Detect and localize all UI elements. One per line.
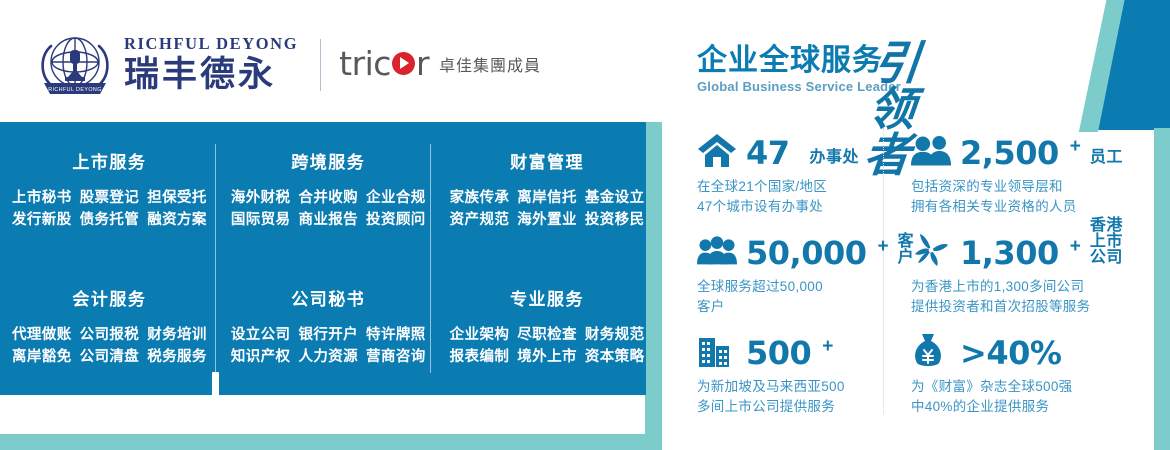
service-item[interactable]: 离岸信托 <box>517 190 577 206</box>
service-block-professional[interactable]: 专业服务 企业架构尽职检查财务规范 报表编制境外上市资本策略 <box>438 259 657 396</box>
service-item[interactable]: 家族传承 <box>450 190 510 206</box>
service-row: 家族传承离岸信托基金设立 <box>446 187 649 209</box>
service-row: 设立公司银行开户特许牌照 <box>227 324 430 346</box>
stat-hk-listed: 1,300 + 香港上市公司 为香港上市的1,300多间公司 提供投资者和首次招… <box>911 224 1137 324</box>
stat-unit: 办事处 <box>810 150 860 168</box>
service-row: 代理做账公司报税财务培训 <box>8 324 211 346</box>
service-row: 国际贸易商业报告投资顾问 <box>227 209 430 231</box>
stat-plus: + <box>877 237 888 256</box>
service-item[interactable]: 海外财税 <box>231 190 291 206</box>
service-item[interactable]: 企业合规 <box>366 190 426 206</box>
service-item[interactable]: 尽职检查 <box>517 327 577 343</box>
tricor-o-icon <box>392 52 415 75</box>
money-bag-icon <box>911 330 951 368</box>
service-row: 海外财税合并收购企业合规 <box>227 187 430 209</box>
stat-description: 为香港上市的1,300多间公司 提供投资者和首次招股等服务 <box>911 277 1137 316</box>
house-icon <box>697 130 737 168</box>
brand-name-block: RICHFUL DEYONG 瑞丰德永 <box>124 35 298 95</box>
service-item[interactable]: 担保受托 <box>147 190 207 206</box>
service-title: 财富管理 <box>446 148 649 173</box>
stat-desc-line2: 客户 <box>697 297 883 317</box>
service-block-wealth[interactable]: 财富管理 家族传承离岸信托基金设立 资产规范海外置业投资移民 <box>438 122 657 259</box>
stat-unit: 员工 <box>1090 150 1123 168</box>
stat-desc-line2: 多间上市公司提供服务 <box>697 397 883 417</box>
stat-offices: 47 办事处 在全球21个国家/地区 47个城市设有办事处 <box>697 124 883 224</box>
service-item[interactable]: 企业架构 <box>450 327 510 343</box>
stat-desc-line1: 为《财富》杂志全球500强 <box>911 377 1137 397</box>
service-block-secretary[interactable]: 公司秘书 设立公司银行开户特许牌照 知识产权人力资源营商咨询 <box>219 259 438 396</box>
bauhinia-icon <box>911 230 951 268</box>
stat-unit: 香港上市公司 <box>1090 218 1137 268</box>
stat-number: 50,000 <box>746 238 866 268</box>
tricor-wordmark: tric r <box>339 47 429 80</box>
service-row: 离岸豁免公司清盘税务服务 <box>8 346 211 368</box>
service-row: 发行新股债务托管融资方案 <box>8 209 211 231</box>
stat-description: 在全球21个国家/地区 47个城市设有办事处 <box>697 177 883 216</box>
service-item[interactable]: 设立公司 <box>231 327 291 343</box>
stats-grid: 47 办事处 在全球21个国家/地区 47个城市设有办事处 <box>697 124 1137 424</box>
service-item[interactable]: 境外上市 <box>517 349 577 365</box>
service-item[interactable]: 知识产权 <box>231 349 291 365</box>
service-item[interactable]: 离岸豁免 <box>12 349 72 365</box>
stat-desc-line1: 全球服务超过50,000 <box>697 277 883 297</box>
service-item[interactable]: 银行开户 <box>298 327 358 343</box>
service-item[interactable]: 代理做账 <box>12 327 72 343</box>
service-item[interactable]: 公司清盘 <box>80 349 140 365</box>
stat-description: 全球服务超过50,000 客户 <box>697 277 883 316</box>
stat-description: 包括资深的专业领导层和 拥有各相关专业资格的人员 <box>911 177 1137 216</box>
stat-plus: + <box>1070 237 1081 256</box>
service-row: 知识产权人力资源营商咨询 <box>227 346 430 368</box>
stat-desc-line2: 拥有各相关专业资格的人员 <box>911 197 1137 217</box>
poster-canvas: RICHFUL DEYONG RICHFUL DEYONG 瑞丰德永 tric … <box>0 0 1170 450</box>
stat-desc-line2: 47个城市设有办事处 <box>697 197 883 217</box>
service-title: 跨境服务 <box>227 148 430 173</box>
stat-desc-line1: 包括资深的专业领导层和 <box>911 177 1137 197</box>
svg-text:RICHFUL DEYONG: RICHFUL DEYONG <box>48 87 102 93</box>
service-item[interactable]: 财务规范 <box>585 327 645 343</box>
brand-lockup: RICHFUL DEYONG RICHFUL DEYONG 瑞丰德永 tric … <box>38 28 541 102</box>
stat-desc-line2: 中40%的企业提供服务 <box>911 397 1137 417</box>
service-block-crossborder[interactable]: 跨境服务 海外财税合并收购企业合规 国际贸易商业报告投资顾问 <box>219 122 438 259</box>
service-item[interactable]: 投资顾问 <box>366 212 426 228</box>
tricor-cn-label: 卓佳集團成員 <box>439 52 541 80</box>
building-icon <box>697 330 737 368</box>
service-block-accounting[interactable]: 会计服务 代理做账公司报税财务培训 离岸豁免公司清盘税务服务 <box>0 259 219 396</box>
stat-desc-line1: 为香港上市的1,300多间公司 <box>911 277 1137 297</box>
bottom-teal-bar <box>0 434 662 450</box>
stat-clients: 50,000 + 客户 全球服务超过50,000 客户 <box>697 224 883 324</box>
stat-plus: + <box>822 337 833 356</box>
service-row: 资产规范海外置业投资移民 <box>446 209 649 231</box>
service-block-listing[interactable]: 上市服务 上市秘书股票登记担保受托 发行新股债务托管融资方案 <box>0 122 219 259</box>
service-row: 上市秘书股票登记担保受托 <box>8 187 211 209</box>
stat-description: 为《财富》杂志全球500强 中40%的企业提供服务 <box>911 377 1137 416</box>
service-item[interactable]: 股票登记 <box>80 190 140 206</box>
service-title: 会计服务 <box>8 285 211 310</box>
headline-cn: 企业全球服务 <box>697 46 901 76</box>
stat-number: 1,300 <box>960 238 1059 268</box>
service-item[interactable]: 商业报告 <box>298 212 358 228</box>
service-item[interactable]: 投资移民 <box>585 212 645 228</box>
service-item[interactable]: 营商咨询 <box>366 349 426 365</box>
brand-divider <box>320 39 321 91</box>
stat-number: 47 <box>746 138 790 168</box>
service-title: 专业服务 <box>446 285 649 310</box>
service-item[interactable]: 资本策略 <box>585 349 645 365</box>
stat-staff: 2,500 + 员工 包括资深的专业领导层和 拥有各相关专业资格的人员 <box>911 124 1137 224</box>
service-item[interactable]: 上市秘书 <box>12 190 72 206</box>
stat-number: >40% <box>960 338 1061 368</box>
service-item[interactable]: 人力资源 <box>298 349 358 365</box>
headline-block: 企业全球服务 Global Business Service Leader 引领… <box>697 46 901 94</box>
service-item[interactable]: 融资方案 <box>147 212 207 228</box>
two-people-icon <box>911 130 951 168</box>
stat-desc-line1: 在全球21个国家/地区 <box>697 177 883 197</box>
service-item[interactable]: 资产规范 <box>450 212 510 228</box>
stat-desc-line1: 为新加坡及马来西亚500 <box>697 377 883 397</box>
stat-plus: + <box>1070 137 1081 156</box>
service-item[interactable]: 报表编制 <box>450 349 510 365</box>
service-item[interactable]: 合并收购 <box>298 190 358 206</box>
service-title: 公司秘书 <box>227 285 430 310</box>
service-item[interactable]: 税务服务 <box>147 349 207 365</box>
tricor-wordmark-tail: r <box>416 47 429 80</box>
service-title: 上市服务 <box>8 148 211 173</box>
tricor-lockup: tric r 卓佳集團成員 <box>339 47 541 84</box>
tricor-wordmark-head: tric <box>339 47 391 80</box>
brand-name-cn: 瑞丰德永 <box>124 55 298 95</box>
service-item[interactable]: 财务培训 <box>147 327 207 343</box>
service-item[interactable]: 债务托管 <box>80 212 140 228</box>
services-panel: 上市服务 上市秘书股票登记担保受托 发行新股债务托管融资方案 跨境服务 海外财税… <box>0 122 646 395</box>
service-row: 报表编制境外上市资本策略 <box>446 346 649 368</box>
service-item[interactable]: 国际贸易 <box>231 212 291 228</box>
richful-deyong-crest-icon: RICHFUL DEYONG <box>38 28 112 102</box>
stat-desc-line2: 提供投资者和首次招股等服务 <box>911 297 1137 317</box>
right-teal-stripe <box>1154 128 1170 450</box>
stat-description: 为新加坡及马来西亚500 多间上市公司提供服务 <box>697 377 883 416</box>
service-row: 企业架构尽职检查财务规范 <box>446 324 649 346</box>
stat-sg-my-listed: 500 + 为新加坡及马来西亚500 多间上市公司提供服务 <box>697 324 883 424</box>
brand-name-en: RICHFUL DEYONG <box>124 35 298 53</box>
three-people-icon <box>697 230 737 268</box>
stat-number: 500 <box>746 338 811 368</box>
service-item[interactable]: 公司报税 <box>80 327 140 343</box>
service-item[interactable]: 发行新股 <box>12 212 72 228</box>
service-item[interactable]: 基金设立 <box>585 190 645 206</box>
service-item[interactable]: 特许牌照 <box>366 327 426 343</box>
stat-fortune500: >40% 为《财富》杂志全球500强 中40%的企业提供服务 <box>911 324 1137 424</box>
stat-number: 2,500 <box>960 138 1059 168</box>
service-item[interactable]: 海外置业 <box>517 212 577 228</box>
